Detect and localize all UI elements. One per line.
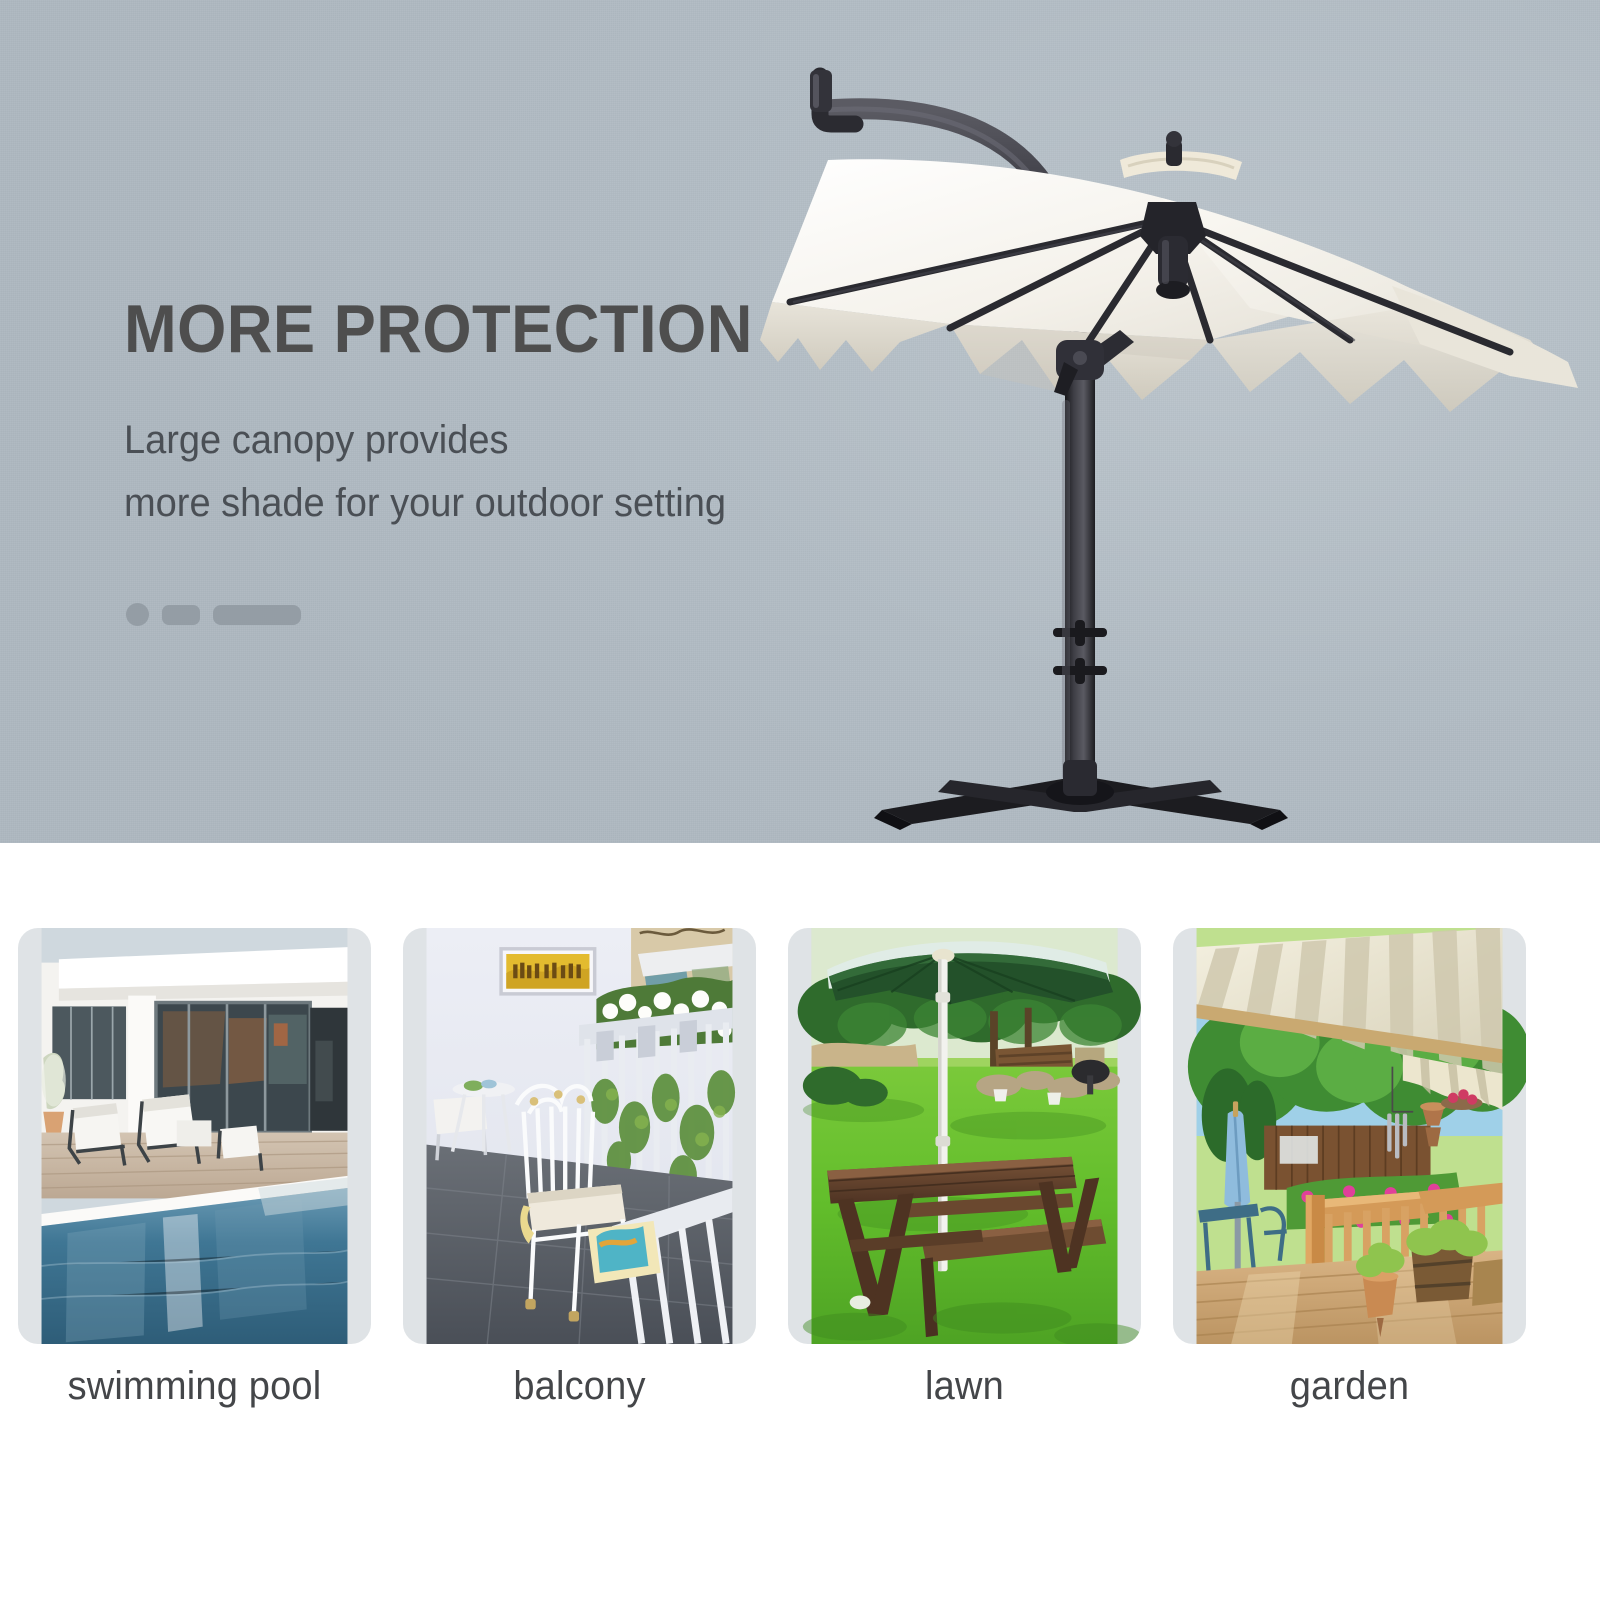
hero-copy-block: MORE PROTECTION Large canopy provides mo… (124, 295, 984, 535)
thumbnail-caption: lawn (797, 1364, 1132, 1409)
hero-subtitle-line-2: more shade for your outdoor setting (124, 472, 941, 535)
gallery-item-balcony[interactable]: balcony (403, 928, 756, 1409)
hero-subtitle-line-1: Large canopy provides (124, 409, 941, 472)
decorative-accent-group (126, 603, 301, 626)
thumbnail-swimming-pool[interactable] (18, 928, 371, 1344)
page-title: MORE PROTECTION (124, 295, 924, 363)
thumbnail-caption: balcony (412, 1364, 747, 1409)
thumbnail-caption: garden (1182, 1364, 1517, 1409)
gallery-item-swimming-pool[interactable]: swimming pool (18, 928, 371, 1409)
thumbnail-lawn[interactable] (788, 928, 1141, 1344)
gallery-item-lawn[interactable]: lawn (788, 928, 1141, 1409)
product-marketing-page: MORE PROTECTION Large canopy provides mo… (0, 0, 1600, 1600)
accent-dot-icon (126, 603, 149, 626)
hero-subtitle: Large canopy provides more shade for you… (124, 409, 941, 535)
accent-pill-icon (162, 605, 200, 625)
hero-panel: MORE PROTECTION Large canopy provides mo… (0, 0, 1600, 843)
thumbnail-caption: swimming pool (27, 1364, 362, 1409)
accent-bar-icon (213, 605, 301, 625)
thumbnail-garden[interactable] (1173, 928, 1526, 1344)
gallery-item-garden[interactable]: garden (1173, 928, 1526, 1409)
thumbnail-balcony[interactable] (403, 928, 756, 1344)
usage-scenario-gallery: swimming pool (18, 928, 1582, 1409)
